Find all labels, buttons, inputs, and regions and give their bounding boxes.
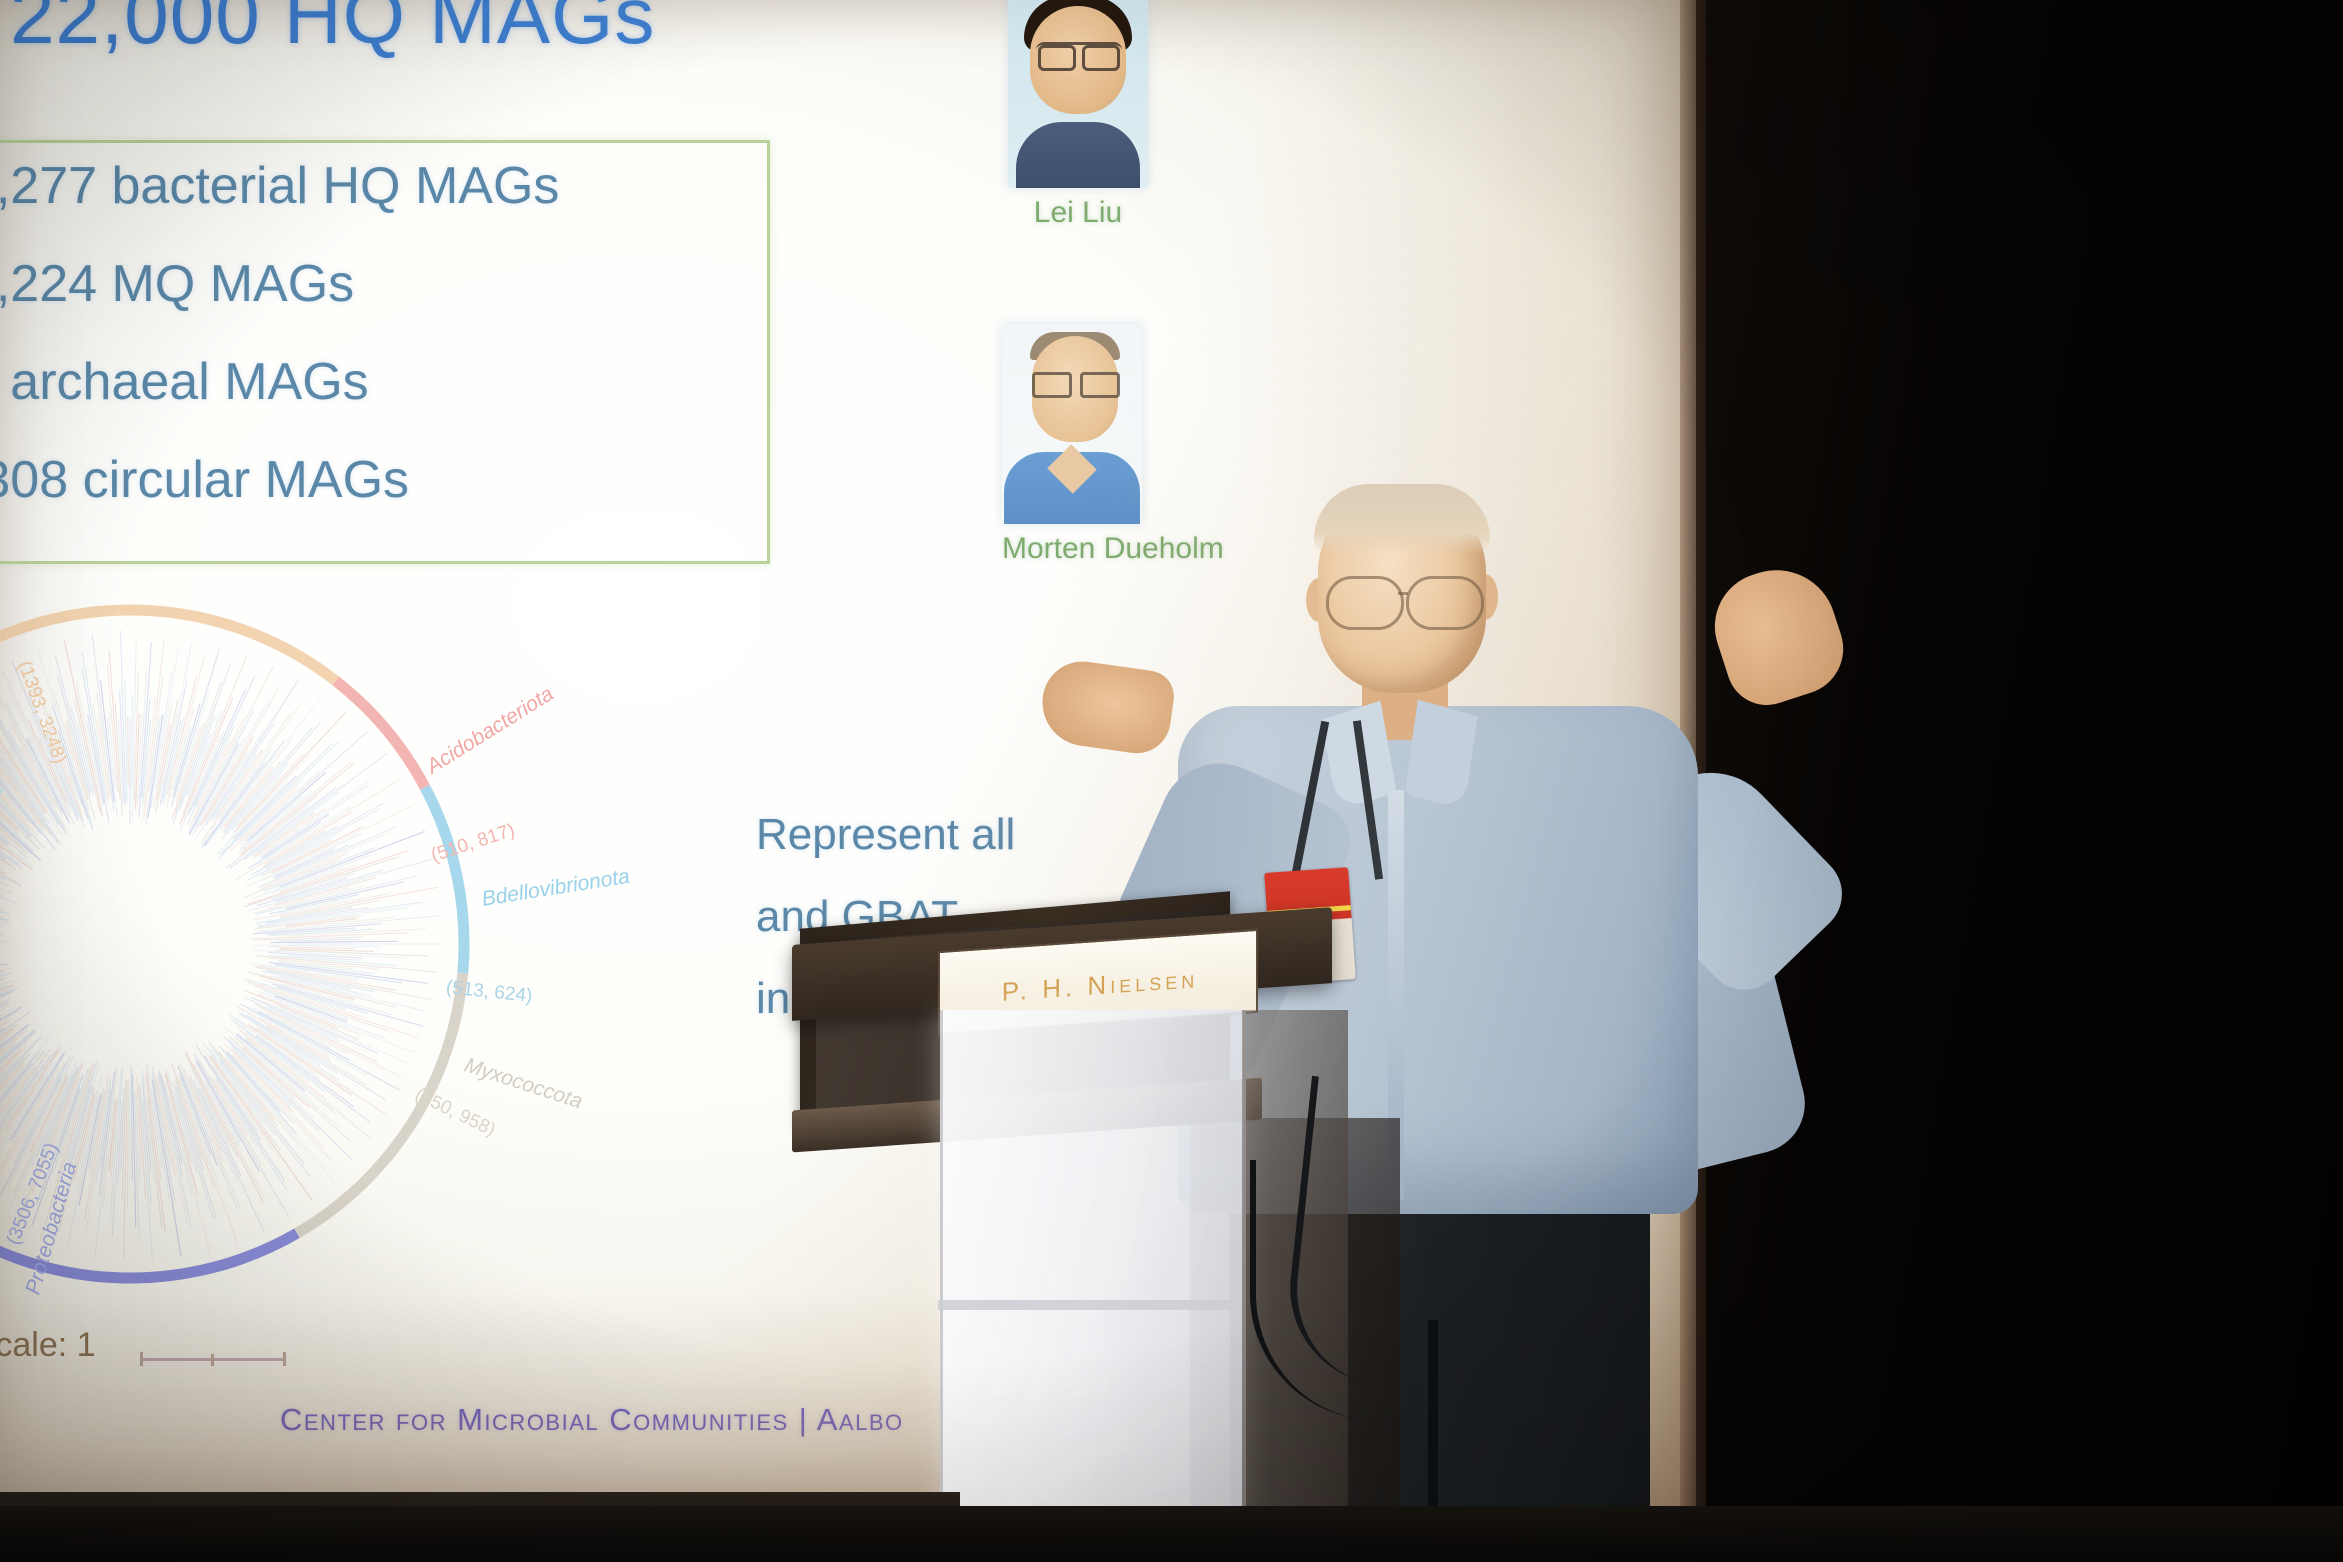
bullet-label: 31,224 MQ MAGs bbox=[0, 254, 354, 314]
speaker-glasses-left-lens bbox=[1326, 576, 1404, 630]
bullet-row: o 22,277 bacterial HQ MAGs bbox=[0, 156, 760, 254]
shirt-shape bbox=[1016, 122, 1140, 188]
phylogenetic-tree-figure: MyxococcotaBdellovibrionotaAcidobacterio… bbox=[0, 574, 500, 1314]
glasses-icon bbox=[1036, 42, 1122, 65]
lectern-shelf bbox=[938, 1300, 1242, 1310]
bullet-label: 93 archaeal MAGs bbox=[0, 352, 369, 412]
tree-taxon-label: Bdellovibrionota bbox=[480, 865, 631, 912]
glasses-icon bbox=[1032, 372, 1120, 392]
bullet-row: o 1,308 circular MAGs bbox=[0, 450, 760, 548]
tree-scale-bar bbox=[140, 1352, 286, 1366]
bullet-label: 22,277 bacterial HQ MAGs bbox=[0, 156, 559, 216]
slide-footer: Center for Microbial Communities | Aalbo bbox=[280, 1402, 904, 1438]
tree-svg bbox=[0, 574, 500, 1314]
bullet-row: o 31,224 MQ MAGs bbox=[0, 254, 760, 352]
portrait-caption: Lei Liu bbox=[1008, 196, 1148, 230]
slide-title: 22,000 HQ MAGs bbox=[10, 0, 655, 62]
portrait-lei-liu: Lei Liu bbox=[1008, 0, 1148, 230]
bullet-label: 1,308 circular MAGs bbox=[0, 450, 409, 510]
speaker-glasses-bridge bbox=[1398, 592, 1408, 595]
slide-bullet-list: o 22,277 bacterial HQ MAGs o 31,224 MQ M… bbox=[0, 156, 760, 548]
portrait-photo bbox=[1008, 0, 1148, 188]
photo-scene: 22,000 HQ MAGs o 22,277 bacterial HQ MAG… bbox=[0, 0, 2343, 1562]
speaker-right-hand bbox=[1701, 555, 1855, 716]
lectern-body bbox=[940, 1010, 1246, 1562]
speaker-glasses-right-lens bbox=[1406, 576, 1484, 630]
bullet-row: o 93 archaeal MAGs bbox=[0, 352, 760, 450]
tree-scale-caption: e scale: 1 bbox=[0, 1326, 96, 1365]
stage-floor bbox=[0, 1506, 2343, 1562]
speaker-hair bbox=[1314, 484, 1490, 554]
slide-body-line: Represent all bbox=[756, 794, 1015, 876]
